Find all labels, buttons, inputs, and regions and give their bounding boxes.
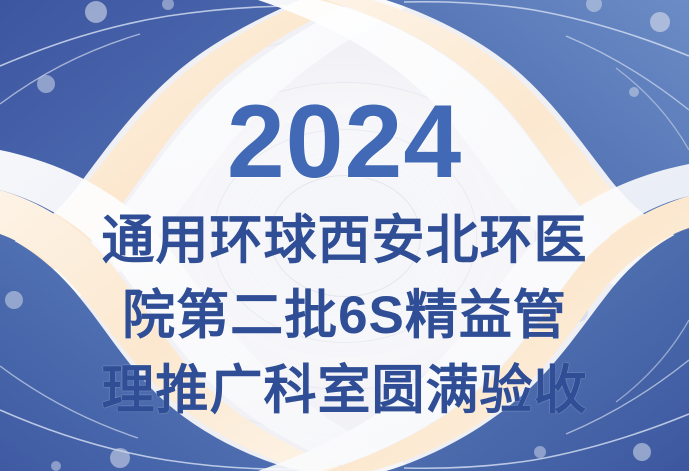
poster-canvas: 2024 通用环球西安北环医 院第二批6S精益管 理推广科室圆满验收: [0, 0, 689, 471]
headline-line-1: 通用环球西安北环医: [102, 204, 588, 277]
poster-text-block: 2024 通用环球西安北环医 院第二批6S精益管 理推广科室圆满验收: [0, 0, 689, 471]
headline-line-2: 院第二批6S精益管: [122, 279, 567, 352]
headline-line-3: 理推广科室圆满验收: [102, 354, 588, 427]
poster-year: 2024: [227, 90, 462, 194]
poster-headline: 通用环球西安北环医 院第二批6S精益管 理推广科室圆满验收: [102, 204, 588, 427]
